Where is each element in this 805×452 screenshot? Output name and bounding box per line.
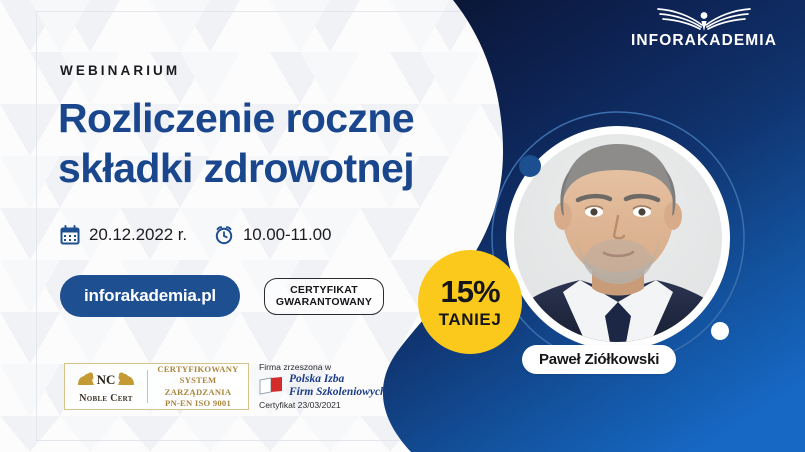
noble-cert-logo: NC Noble Cert CERTYFIKOWANY SYSTEM ZARZĄ… <box>64 363 249 410</box>
polish-flag-icon <box>258 376 284 396</box>
page-title: Rozliczenie roczne składki zdrowotnej <box>58 93 478 193</box>
svg-text:NC: NC <box>97 372 116 387</box>
discount-label: TANIEJ <box>439 311 502 328</box>
noble-line-2: SYSTEM ZARZĄDZANIA <box>148 375 248 398</box>
event-meta: 20.12.2022 r. 10.00-11.00 <box>60 225 331 245</box>
discount-badge: 15% TANIEJ <box>418 250 522 354</box>
noble-cert-mark: NC Noble Cert <box>65 369 147 404</box>
discount-percent: 15% <box>440 276 499 307</box>
pifs-mark-row: Polska Izba Firm Szkoleniowych <box>258 373 423 398</box>
brand-logo: INFORAKADEMIA <box>619 6 789 49</box>
event-date: 20.12.2022 r. <box>89 225 187 245</box>
orbit-dot-white <box>711 322 729 340</box>
certificate-line-1: CERTYFIKAT <box>276 284 372 297</box>
cta-row: inforakademia.pl CERTYFIKAT GWARANTOWANY <box>60 275 384 317</box>
pifs-name-line-1: Polska Izba <box>289 373 386 386</box>
webinar-banner: INFORAKADEMIA WEBINARIUM Rozliczenie roc… <box>0 0 805 452</box>
noble-line-3: PN-EN ISO 9001 <box>148 398 248 410</box>
certificate-line-2: GWARANTOWANY <box>276 296 372 309</box>
content-column: WEBINARIUM Rozliczenie roczne składki zd… <box>60 0 480 452</box>
noble-line-1: CERTYFIKOWANY <box>148 364 248 376</box>
pifs-name-line-2: Firm Szkoleniowych <box>289 386 386 399</box>
certificate-badge: CERTYFIKAT GWARANTOWANY <box>264 278 384 315</box>
open-book-wings-icon <box>656 6 752 32</box>
noble-cert-text: CERTYFIKOWANY SYSTEM ZARZĄDZANIA PN-EN I… <box>148 364 248 410</box>
kicker-label: WEBINARIUM <box>60 63 180 78</box>
noble-cert-name: Noble Cert <box>65 393 147 404</box>
event-time: 10.00-11.00 <box>243 225 331 245</box>
pifs-intro: Firma zrzeszona w <box>258 362 423 372</box>
lions-crest-icon: NC <box>74 369 138 389</box>
orbit-dot-navy <box>519 155 541 177</box>
headline-line-1: Rozliczenie roczne <box>58 93 478 143</box>
pifs-logo: Firma zrzeszona w Polska Izba Firm Szkol… <box>258 362 423 410</box>
pifs-name: Polska Izba Firm Szkoleniowych <box>289 373 386 398</box>
headline-line-2: składki zdrowotnej <box>58 143 478 193</box>
pifs-certificate: Certyfikat 23/03/2021 <box>258 400 423 410</box>
alarm-clock-icon <box>214 225 234 245</box>
website-button[interactable]: inforakademia.pl <box>60 275 240 317</box>
calendar-icon <box>60 225 80 245</box>
speaker-name: Paweł Ziółkowski <box>522 345 676 374</box>
brand-name: INFORAKADEMIA <box>619 33 789 49</box>
